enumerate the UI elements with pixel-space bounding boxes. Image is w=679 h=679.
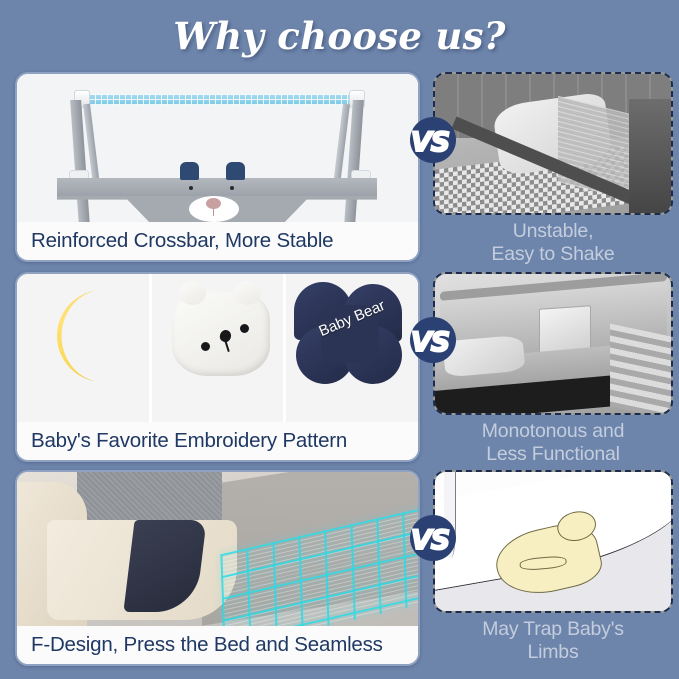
patch-bear-ear-left <box>179 281 206 305</box>
bad-caption-f-design: May Trap Baby's Limbs <box>433 618 673 664</box>
bad-caption-line-1: Monotonous and <box>433 420 673 443</box>
good-card-embroidery: Baby Bear Baby's Favorite Embroidery Pat… <box>15 272 420 462</box>
f-design-photo <box>17 472 418 626</box>
photo-stacked-bedding <box>610 323 671 415</box>
bad-caption-stability: Unstable, Easy to Shake <box>433 220 673 266</box>
good-illustration-f-design <box>17 472 418 626</box>
good-card-f-design: F-Design, Press the Bed and Seamless <box>15 470 420 666</box>
bear-eye-left-icon <box>189 186 193 190</box>
bear-face-patch-icon <box>172 290 270 376</box>
bear-eye-right-icon <box>230 186 234 190</box>
bad-caption-embroidery: Monotonous and Less Functional <box>433 420 673 466</box>
patch-bear-eye-left <box>201 342 210 351</box>
bad-caption-line-1: Unstable, <box>433 220 673 243</box>
bad-panel-f-design: May Trap Baby's Limbs <box>433 470 673 666</box>
patch-cell-bear <box>152 274 287 422</box>
vs-badge-label: VS <box>411 525 449 556</box>
page-title: Why choose us? <box>0 14 679 58</box>
good-caption-embroidery: Baby's Favorite Embroidery Pattern <box>17 422 418 460</box>
bad-panel-embroidery: Monotonous and Less Functional <box>433 272 673 462</box>
reinforced-crossbar <box>57 178 377 198</box>
illustration-baby-limb <box>520 555 568 571</box>
bed-rail-drawing <box>17 74 418 222</box>
vs-badge-f-design: VS <box>404 515 456 567</box>
patch-cell-flower: Baby Bear <box>286 274 418 422</box>
competitor-illustration-image <box>435 472 671 611</box>
bad-illustration-trapped-limbs <box>433 470 673 613</box>
bad-caption-line-1: May Trap Baby's <box>433 618 673 641</box>
vs-badge-embroidery: VS <box>404 317 456 369</box>
bear-ear-left-icon <box>180 162 199 180</box>
bad-caption-line-2: Less Functional <box>433 443 673 466</box>
bad-photo-unstable-rail <box>433 72 673 215</box>
patch-bear-eye-right <box>240 324 249 333</box>
comparison-row-embroidery: Baby Bear Baby's Favorite Embroidery Pat… <box>0 272 679 462</box>
competitor-photo-image <box>435 74 671 213</box>
infographic-page: Why choose us? <box>0 0 679 679</box>
bear-mouth-icon <box>213 208 214 216</box>
bad-caption-line-2: Easy to Shake <box>433 243 673 266</box>
good-caption-stability: Reinforced Crossbar, More Stable <box>17 222 418 260</box>
mesh-top-bar <box>89 94 351 105</box>
bad-panel-stability: Unstable, Easy to Shake <box>433 72 673 262</box>
crescent-moon-patch-icon <box>41 290 125 382</box>
vs-badge-label: VS <box>411 127 449 158</box>
patch-bear-mouth <box>224 340 229 352</box>
good-caption-f-design: F-Design, Press the Bed and Seamless <box>17 626 418 664</box>
bear-ear-right-icon <box>226 162 245 180</box>
patch-gallery: Baby Bear <box>17 274 418 422</box>
patch-bear-ear-right <box>234 281 261 305</box>
comparison-row-f-design: F-Design, Press the Bed and Seamless VS <box>0 470 679 666</box>
good-illustration-patches: Baby Bear <box>17 274 418 422</box>
patch-cell-moon <box>17 274 152 422</box>
comparison-row-stability: Reinforced Crossbar, More Stable VS Unst… <box>0 72 679 262</box>
good-illustration-bed-rail <box>17 74 418 222</box>
vs-badge-stability: VS <box>404 117 456 169</box>
photo-nightstand <box>629 99 671 213</box>
good-card-stability: Reinforced Crossbar, More Stable <box>15 72 420 262</box>
bad-photo-plain-rail <box>433 272 673 415</box>
bad-caption-line-2: Limbs <box>433 641 673 664</box>
vs-badge-label: VS <box>411 327 449 358</box>
flower-patch-icon: Baby Bear <box>294 282 406 386</box>
competitor-photo-image <box>435 274 671 413</box>
